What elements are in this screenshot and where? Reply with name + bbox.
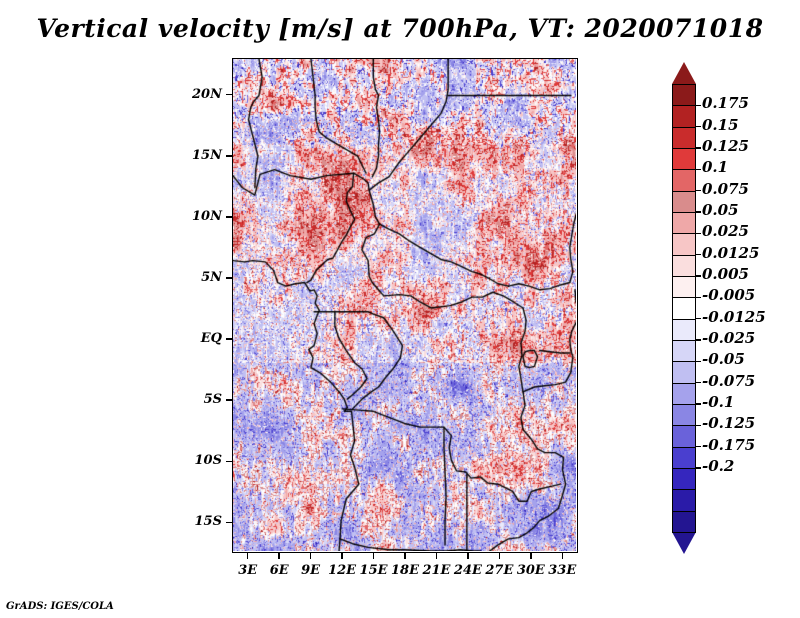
y-tick-mark [226,461,232,463]
y-tick-mark [226,399,232,401]
x-tick-mark [530,553,532,559]
y-tick-label: 10S [160,453,222,468]
page-title: Vertical velocity [m/s] at 700hPa, VT: 2… [0,14,800,43]
colorbar-tick-label: -0.1 [702,395,734,410]
y-tick-mark [226,155,232,157]
y-tick-label: 15N [160,148,222,163]
colorbar-swatch [672,489,696,512]
colorbar-tick-label: 0.125 [702,139,749,154]
colorbar-tick-mark [696,147,701,149]
colorbar-tick-mark [696,403,701,405]
x-tick-mark [404,553,406,559]
colorbar-tick-mark [696,446,701,448]
y-tick-mark [226,94,232,96]
colorbar-swatch [672,425,696,448]
colorbar-swatch [672,84,696,107]
map-plot-area [232,58,578,553]
colorbar-tick-label: 0.1 [702,160,728,175]
x-tick-mark [247,553,249,559]
colorbar: 0.1750.150.1250.10.0750.050.0250.01250.0… [672,62,696,554]
colorbar-swatch [672,127,696,150]
y-tick-mark [226,216,232,218]
y-tick-label: 15S [160,514,222,529]
footer-credit: GrADS: IGES/COLA [6,601,114,612]
colorbar-swatch [672,447,696,470]
colorbar-tick-label: -0.125 [702,416,755,431]
colorbar-tick-label: -0.05 [702,352,745,367]
colorbar-tick-label: -0.005 [702,288,755,303]
colorbar-swatch [672,233,696,256]
colorbar-tick-label: 0.15 [702,118,739,133]
colorbar-arrow-top [672,62,696,84]
colorbar-swatch [672,361,696,384]
x-tick-mark [436,553,438,559]
colorbar-tick-mark [696,425,701,427]
y-tick-label: 5N [160,270,222,285]
colorbar-tick-label: 0.175 [702,96,749,111]
colorbar-swatch [672,105,696,128]
colorbar-arrow-bottom [672,532,696,554]
y-tick-label: 5S [160,392,222,407]
colorbar-swatch [672,319,696,342]
colorbar-tick-label: 0.075 [702,182,749,197]
country-borders-overlay [233,59,576,551]
colorbar-tick-mark [696,339,701,341]
colorbar-tick-label: 0.05 [702,203,739,218]
x-tick-label: 33E [537,563,587,578]
colorbar-tick-mark [696,126,701,128]
colorbar-tick-label: -0.2 [702,459,734,474]
colorbar-swatch [672,276,696,299]
colorbar-tick-mark [696,254,701,256]
colorbar-swatch [672,340,696,363]
colorbar-tick-label: 0.025 [702,224,749,239]
x-tick-mark [562,553,564,559]
colorbar-tick-mark [696,233,701,235]
colorbar-tick-mark [696,382,701,384]
colorbar-tick-label: 0.0125 [702,246,759,261]
x-tick-mark [373,553,375,559]
x-tick-mark [499,553,501,559]
x-tick-mark [310,553,312,559]
colorbar-tick-mark [696,190,701,192]
x-tick-mark [341,553,343,559]
colorbar-swatch [672,191,696,214]
colorbar-tick-mark [696,318,701,320]
colorbar-tick-label: -0.075 [702,374,755,389]
colorbar-swatch [672,404,696,427]
colorbar-tick-mark [696,211,701,213]
colorbar-swatch [672,169,696,192]
y-tick-label: 20N [160,87,222,102]
colorbar-tick-mark [696,275,701,277]
x-tick-mark [467,553,469,559]
colorbar-swatch [672,297,696,320]
colorbar-tick-label: -0.0125 [702,310,766,325]
colorbar-swatch [672,212,696,235]
colorbar-swatch [672,383,696,406]
colorbar-tick-label: -0.175 [702,438,755,453]
colorbar-swatch [672,255,696,278]
colorbar-swatch [672,148,696,171]
colorbar-tick-mark [696,105,701,107]
y-tick-mark [226,277,232,279]
colorbar-tick-label: 0.005 [702,267,749,282]
colorbar-tick-mark [696,467,701,469]
x-tick-mark [278,553,280,559]
colorbar-swatch [672,511,696,534]
colorbar-tick-mark [696,297,701,299]
colorbar-tick-mark [696,361,701,363]
y-tick-mark [226,522,232,524]
colorbar-swatch [672,468,696,491]
colorbar-tick-mark [696,169,701,171]
colorbar-tick-label: -0.025 [702,331,755,346]
y-tick-label: EQ [160,331,222,346]
y-tick-label: 10N [160,209,222,224]
y-tick-mark [226,338,232,340]
